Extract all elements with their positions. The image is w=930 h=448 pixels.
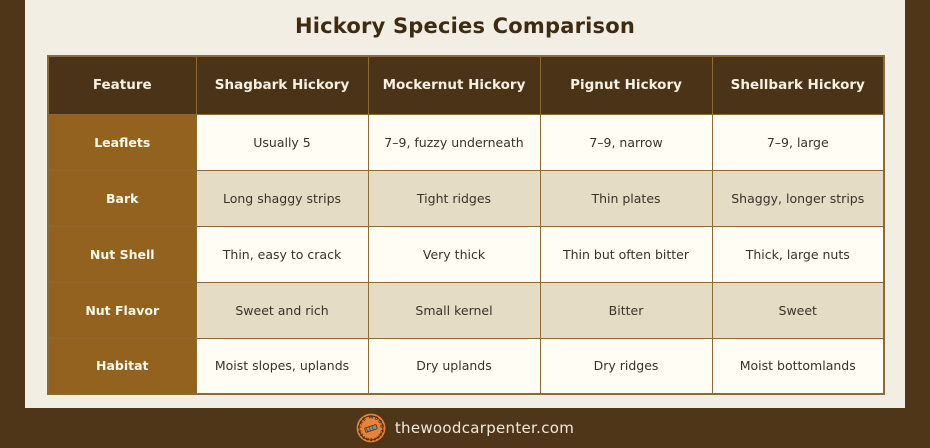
table-header-row: Feature Shagbark Hickory Mockernut Hicko… <box>48 56 884 114</box>
wood-carpenter-logo-icon: THE WOOD CARPENTER <box>356 413 386 443</box>
cell-habitat-shagbark: Moist slopes, uplands <box>196 338 368 394</box>
cell-leaflets-pignut: 7–9, narrow <box>540 114 712 170</box>
row-label-bark: Bark <box>48 170 196 226</box>
hickory-comparison-table: Feature Shagbark Hickory Mockernut Hicko… <box>47 55 885 395</box>
column-header-shellbark-hickory: Shellbark Hickory <box>712 56 884 114</box>
footer-site-name: thewoodcarpenter.com <box>395 419 574 437</box>
table-header: Feature Shagbark Hickory Mockernut Hicko… <box>48 56 884 114</box>
table-row: Leaflets Usually 5 7–9, fuzzy underneath… <box>48 114 884 170</box>
cell-habitat-shellbark: Moist bottomlands <box>712 338 884 394</box>
table-row: Habitat Moist slopes, uplands Dry upland… <box>48 338 884 394</box>
footer: THE WOOD CARPENTER thewoodcarpenter.com <box>0 408 930 448</box>
cell-habitat-pignut: Dry ridges <box>540 338 712 394</box>
cell-leaflets-mockernut: 7–9, fuzzy underneath <box>368 114 540 170</box>
page-title: Hickory Species Comparison <box>25 0 905 38</box>
table-row: Nut Shell Thin, easy to crack Very thick… <box>48 226 884 282</box>
table-body: Leaflets Usually 5 7–9, fuzzy underneath… <box>48 114 884 394</box>
cell-nut-flavor-pignut: Bitter <box>540 282 712 338</box>
cell-nut-flavor-mockernut: Small kernel <box>368 282 540 338</box>
column-header-feature: Feature <box>48 56 196 114</box>
cell-bark-shagbark: Long shaggy strips <box>196 170 368 226</box>
column-header-mockernut-hickory: Mockernut Hickory <box>368 56 540 114</box>
cell-bark-pignut: Thin plates <box>540 170 712 226</box>
cell-nut-flavor-shellbark: Sweet <box>712 282 884 338</box>
cell-bark-mockernut: Tight ridges <box>368 170 540 226</box>
cell-nut-shell-mockernut: Very thick <box>368 226 540 282</box>
column-header-shagbark-hickory: Shagbark Hickory <box>196 56 368 114</box>
content-panel: Hickory Species Comparison Feature Shagb… <box>25 0 905 408</box>
cell-nut-shell-pignut: Thin but often bitter <box>540 226 712 282</box>
cell-nut-flavor-shagbark: Sweet and rich <box>196 282 368 338</box>
row-label-leaflets: Leaflets <box>48 114 196 170</box>
comparison-table-container: Feature Shagbark Hickory Mockernut Hicko… <box>47 55 883 395</box>
cell-nut-shell-shellbark: Thick, large nuts <box>712 226 884 282</box>
cell-nut-shell-shagbark: Thin, easy to crack <box>196 226 368 282</box>
row-label-nut-shell: Nut Shell <box>48 226 196 282</box>
table-row: Bark Long shaggy strips Tight ridges Thi… <box>48 170 884 226</box>
row-label-habitat: Habitat <box>48 338 196 394</box>
row-label-nut-flavor: Nut Flavor <box>48 282 196 338</box>
cell-habitat-mockernut: Dry uplands <box>368 338 540 394</box>
cell-leaflets-shellbark: 7–9, large <box>712 114 884 170</box>
table-row: Nut Flavor Sweet and rich Small kernel B… <box>48 282 884 338</box>
column-header-pignut-hickory: Pignut Hickory <box>540 56 712 114</box>
cell-leaflets-shagbark: Usually 5 <box>196 114 368 170</box>
page-frame: Hickory Species Comparison Feature Shagb… <box>0 0 930 448</box>
cell-bark-shellbark: Shaggy, longer strips <box>712 170 884 226</box>
